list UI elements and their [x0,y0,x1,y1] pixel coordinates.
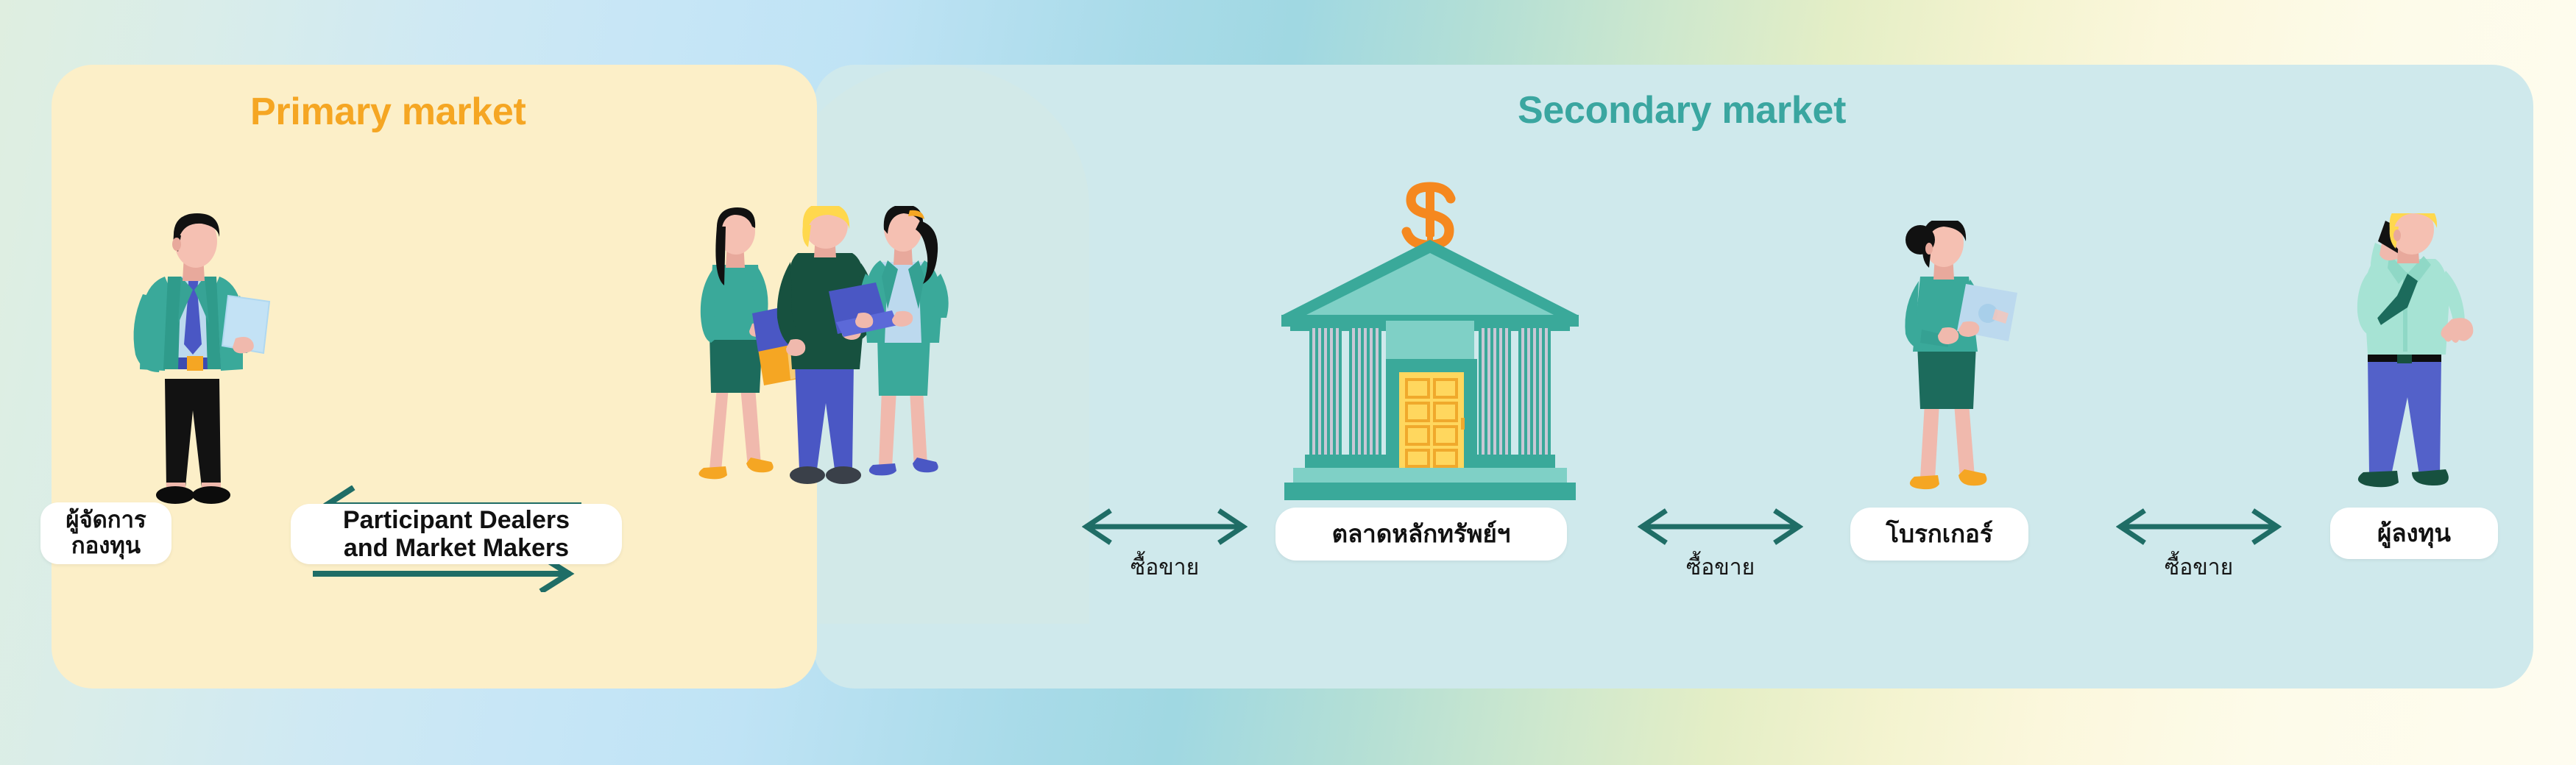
connector-broker-investor [2116,508,2282,546]
connector-label-stock-exchange-broker: ซื้อขาย [1638,550,1803,585]
connector-stock-exchange-broker [1638,508,1803,546]
diagram-canvas: Primary market Secondary market [0,0,2576,765]
node-fund-manager-label-line1: ผู้จัดการ [66,507,146,533]
node-stock-exchange-label: ตลาดหลักทรัพย์ฯ [1332,521,1511,548]
connector-label-broker-investor: ซื้อขาย [2116,550,2282,585]
business-team-of-three-icon [684,206,1008,522]
node-stock-exchange: ตลาดหลักทรัพย์ฯ [1275,508,1567,561]
businessman-with-tablet-icon [110,213,272,522]
bank-building-with-dollar-icon [1268,177,1592,515]
primary-market-title: Primary market [250,90,526,134]
node-broker: โบรกเกอร์ [1850,508,2028,561]
node-fund-manager-label-line2: กองทุน [71,533,141,558]
node-investor: ผู้ลงทุน [2330,508,2498,559]
node-investor-label: ผู้ลงทุน [2377,520,2451,547]
connector-participant-dealers-stock-exchange [1082,508,1248,546]
man-on-phone-icon [2315,213,2499,522]
node-participant-dealers-label-line1: Participant Dealers [343,506,570,534]
node-fund-manager: ผู้จัดการ กองทุน [40,502,171,564]
secondary-market-title: Secondary market [1518,88,1846,132]
node-participant-dealers: Participant Dealers and Market Makers [291,504,622,564]
secondary-market-panel [813,65,2533,688]
node-broker-label: โบรกเกอร์ [1886,521,1992,548]
connector-label-participant-dealers-stock-exchange: ซื้อขาย [1082,550,1248,585]
node-participant-dealers-label-line2: and Market Makers [344,534,569,562]
businesswoman-with-tablet-icon [1844,221,2028,522]
